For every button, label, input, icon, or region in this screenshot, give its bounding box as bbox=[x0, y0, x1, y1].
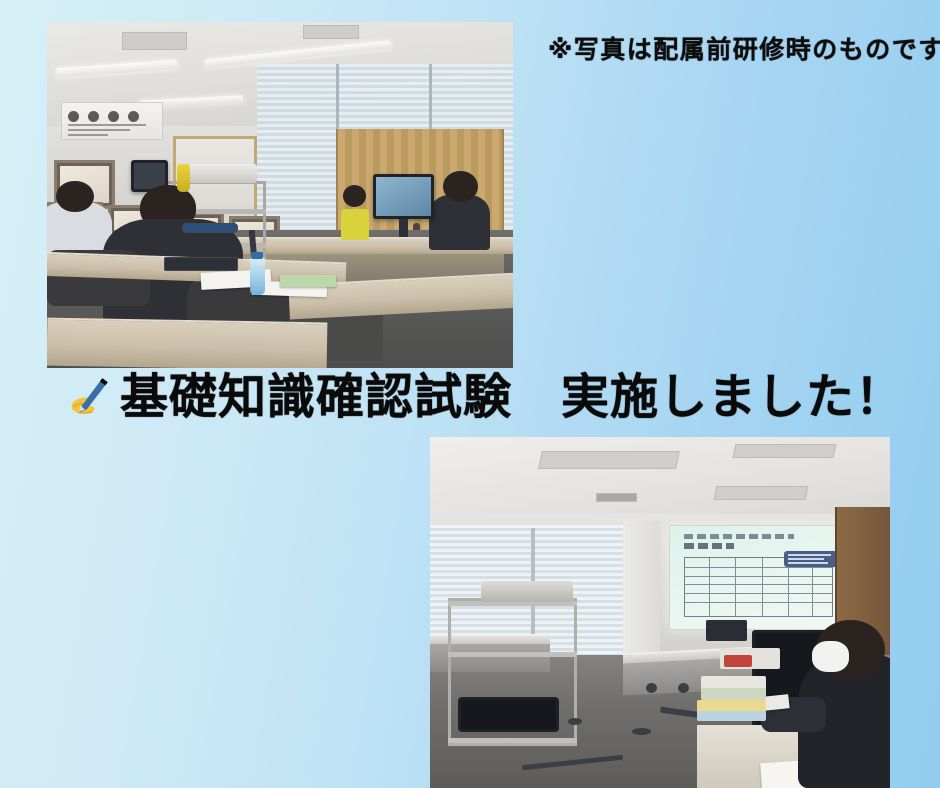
photo-bottom-scene bbox=[430, 437, 890, 788]
ceiling-vent bbox=[303, 25, 359, 39]
page-title: 基礎知識確認試験 実施しました！ bbox=[62, 372, 904, 422]
bag bbox=[706, 620, 747, 641]
writing-hand-icon bbox=[62, 372, 116, 422]
label bbox=[724, 655, 752, 667]
file-stack bbox=[701, 688, 765, 700]
instructor-head bbox=[343, 185, 366, 207]
face-mask bbox=[812, 641, 849, 673]
projection-screen bbox=[669, 525, 848, 630]
projector bbox=[481, 581, 573, 602]
bottle-cap bbox=[251, 252, 263, 259]
photo-top-scene bbox=[47, 22, 513, 368]
wall-poster bbox=[61, 102, 164, 140]
monitor bbox=[373, 174, 434, 219]
participant-head bbox=[443, 171, 478, 202]
ceiling-speaker bbox=[596, 493, 637, 502]
file-stack bbox=[697, 711, 766, 722]
photo-top bbox=[47, 22, 513, 368]
keyboard bbox=[164, 257, 239, 271]
page-title-text: 基礎知識確認試験 実施しました！ bbox=[120, 373, 904, 421]
slide-callout bbox=[784, 551, 837, 568]
ceiling-vent bbox=[732, 444, 836, 458]
participant-head bbox=[56, 181, 93, 212]
cable bbox=[568, 718, 582, 725]
document-stack bbox=[280, 275, 336, 287]
water-bottle bbox=[250, 257, 265, 295]
monitor-stand bbox=[399, 219, 408, 236]
photo-bottom bbox=[430, 437, 890, 788]
thermos bbox=[177, 164, 189, 192]
desk bbox=[47, 317, 327, 368]
pencil-case bbox=[182, 223, 238, 233]
ceiling-vent bbox=[122, 32, 187, 49]
instructor-vest bbox=[341, 209, 369, 240]
participant-body bbox=[429, 195, 490, 250]
ceiling-vent bbox=[539, 451, 681, 469]
cart-equipment bbox=[458, 697, 559, 732]
photo-note-caption: ※写真は配属前研修時のものです bbox=[548, 30, 940, 66]
ceiling-vent bbox=[714, 486, 808, 500]
